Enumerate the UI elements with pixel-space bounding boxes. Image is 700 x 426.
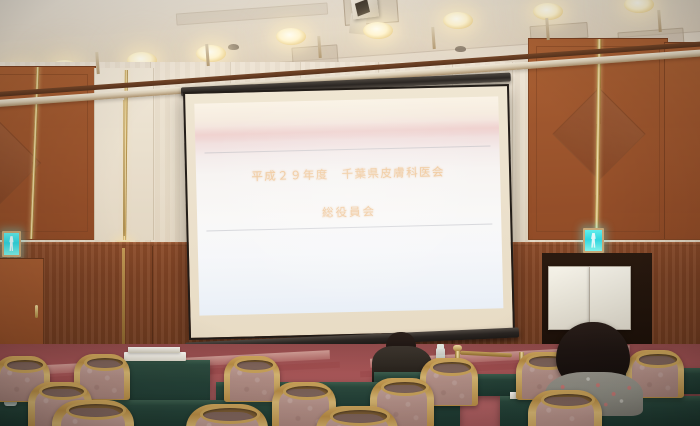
screen-frame: 平成２９年度 千葉県皮膚科医会 総役員会 (183, 84, 515, 340)
chair-back-cutout (4, 357, 47, 373)
chair[interactable] (316, 406, 398, 426)
chair[interactable] (186, 404, 268, 426)
door-panel-white-left (548, 266, 590, 330)
smoke-detector-icon (455, 46, 466, 52)
handout-papers (124, 352, 186, 361)
sconce-rod (123, 100, 125, 236)
projection-screen: 平成２９年度 千葉県皮膚科医会 総役員会 (183, 84, 515, 340)
slide-title-text: 平成２９年度 千葉県皮膚科医会 (196, 162, 500, 185)
conference-room-photo: 平成２９年度 千葉県皮膚科医会 総役員会 (0, 0, 700, 426)
slide-accent-band (195, 120, 499, 144)
emergency-exit-sign-left (2, 231, 21, 257)
bottle-cap-icon (437, 344, 444, 349)
chair-back-cutout (66, 401, 126, 420)
chair[interactable] (52, 400, 134, 426)
chair-back-cutout (430, 359, 474, 376)
exit-sign-face (4, 233, 19, 255)
chair-back-cutout (381, 379, 429, 396)
chair-back-cutout (636, 351, 680, 368)
screen-surface: 平成２９年度 千葉県皮膚科医会 総役員会 (194, 96, 503, 315)
door-handle-icon[interactable] (35, 305, 38, 318)
chair-back-cutout (84, 355, 127, 371)
ceiling-downlight (196, 45, 226, 62)
projector-lens-icon (355, 0, 370, 17)
slide-divider-bottom (207, 224, 493, 232)
slide-divider-top (205, 145, 491, 153)
door-panel-white-right (589, 266, 631, 330)
wall-wood-panel-far-right (664, 42, 700, 240)
slide-subtitle-text: 総役員会 (197, 200, 501, 223)
chair-back-cutout (200, 405, 260, 424)
running-person-icon (9, 236, 15, 251)
smoke-detector-icon (228, 44, 239, 50)
ceiling-projector (351, 0, 379, 20)
chair-back-cutout (39, 383, 87, 400)
wainscot-seam (152, 246, 153, 350)
handout-papers (128, 347, 180, 353)
running-person-icon (590, 233, 596, 248)
wainscot-gold-strip (122, 248, 125, 352)
ceiling-downlight (363, 22, 393, 39)
ceiling-downlight (443, 12, 473, 29)
chair-back-cutout (283, 383, 331, 400)
door-left[interactable] (0, 258, 44, 356)
chair-back-cutout (330, 407, 390, 426)
emergency-exit-sign-right (583, 228, 604, 253)
chair-back-cutout (234, 357, 277, 373)
chair[interactable] (528, 390, 602, 426)
ceiling-downlight (276, 28, 306, 45)
wall-wood-panel-right (528, 38, 668, 240)
exit-sign-face (585, 230, 602, 251)
